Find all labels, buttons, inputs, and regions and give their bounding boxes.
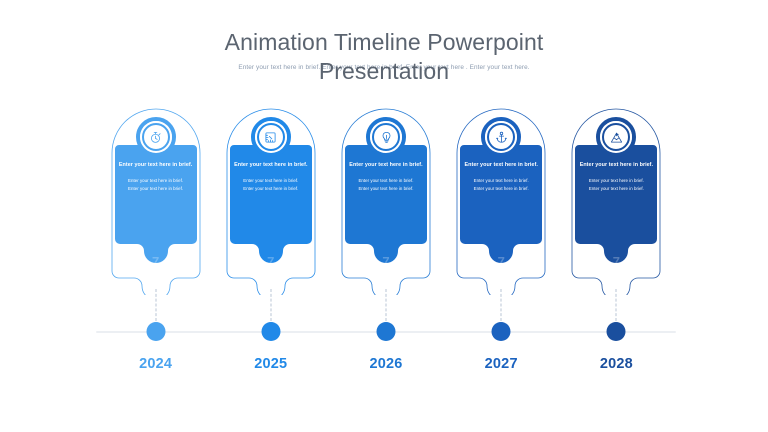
timeline-year-label[interactable]: 2027 (447, 356, 555, 372)
stopwatch-icon (149, 131, 162, 144)
medallion-core (490, 126, 512, 148)
card-icon-medallion[interactable] (363, 114, 409, 160)
timeline-node-dot[interactable] (146, 322, 165, 341)
card-panel: Enter your text here in brief.Enter your… (113, 143, 199, 265)
timeline-connector (501, 289, 502, 321)
card-icon-medallion[interactable] (593, 114, 639, 160)
timeline-card[interactable]: Enter your text here in brief.Enter your… (562, 103, 670, 303)
timeline-year-label[interactable]: 2025 (217, 356, 325, 372)
card-panel: Enter your text here in brief.Enter your… (573, 143, 659, 265)
card-body-line: Enter your text here in brief. (117, 185, 195, 193)
timeline-year-label[interactable]: 2026 (332, 356, 440, 372)
anchor-icon (495, 131, 508, 144)
card-icon-medallion[interactable] (133, 114, 179, 160)
card-heading: Enter your text here in brief. (462, 161, 540, 169)
mountain-flag-icon (610, 131, 623, 144)
timeline-connector (616, 289, 617, 321)
timeline-card[interactable]: Enter your text here in brief.Enter your… (217, 103, 325, 303)
timeline-connector (386, 289, 387, 321)
card-heading: Enter your text here in brief. (232, 161, 310, 169)
card-heading: Enter your text here in brief. (577, 161, 655, 169)
card-body-line: Enter your text here in brief. (462, 177, 540, 185)
timeline-connector (270, 289, 271, 321)
timeline-year-label[interactable]: 2024 (102, 356, 210, 372)
ruler-measure-icon (264, 131, 277, 144)
timeline-connector (155, 289, 156, 321)
timeline-cards: Enter your text here in brief.Enter your… (98, 103, 674, 303)
timeline-node-dot[interactable] (261, 322, 280, 341)
timeline-node-dot[interactable] (377, 322, 396, 341)
slide-canvas: Enter your text here in brief. Enter you… (0, 0, 768, 432)
card-icon-medallion[interactable] (478, 114, 524, 160)
timeline-year-label[interactable]: 2028 (562, 356, 670, 372)
timeline-card[interactable]: Enter your text here in brief.Enter your… (332, 103, 440, 303)
card-panel: Enter your text here in brief.Enter your… (228, 143, 314, 265)
slide-header: Enter your text here in brief. Enter you… (0, 28, 768, 87)
card-body-line: Enter your text here in brief. (347, 185, 425, 193)
timeline-card[interactable]: Enter your text here in brief.Enter your… (102, 103, 210, 303)
card-body-line: Enter your text here in brief. (347, 177, 425, 185)
card-panel: Enter your text here in brief.Enter your… (343, 143, 429, 265)
card-body-line: Enter your text here in brief. (232, 185, 310, 193)
lightbulb-idea-icon (380, 131, 393, 144)
card-panel: Enter your text here in brief.Enter your… (458, 143, 544, 265)
timeline-node-dot[interactable] (607, 322, 626, 341)
medallion-core (260, 126, 282, 148)
timeline-node-dot[interactable] (492, 322, 511, 341)
card-heading: Enter your text here in brief. (117, 161, 195, 169)
card-body-line: Enter your text here in brief. (117, 177, 195, 185)
card-body-line: Enter your text here in brief. (462, 185, 540, 193)
medallion-core (375, 126, 397, 148)
card-heading: Enter your text here in brief. (347, 161, 425, 169)
card-icon-medallion[interactable] (248, 114, 294, 160)
medallion-core (145, 126, 167, 148)
card-body-line: Enter your text here in brief. (232, 177, 310, 185)
card-body-line: Enter your text here in brief. (577, 185, 655, 193)
page-title: Animation Timeline Powerpoint Presentati… (174, 28, 594, 87)
card-body-line: Enter your text here in brief. (577, 177, 655, 185)
medallion-core (605, 126, 627, 148)
timeline-card[interactable]: Enter your text here in brief.Enter your… (447, 103, 555, 303)
